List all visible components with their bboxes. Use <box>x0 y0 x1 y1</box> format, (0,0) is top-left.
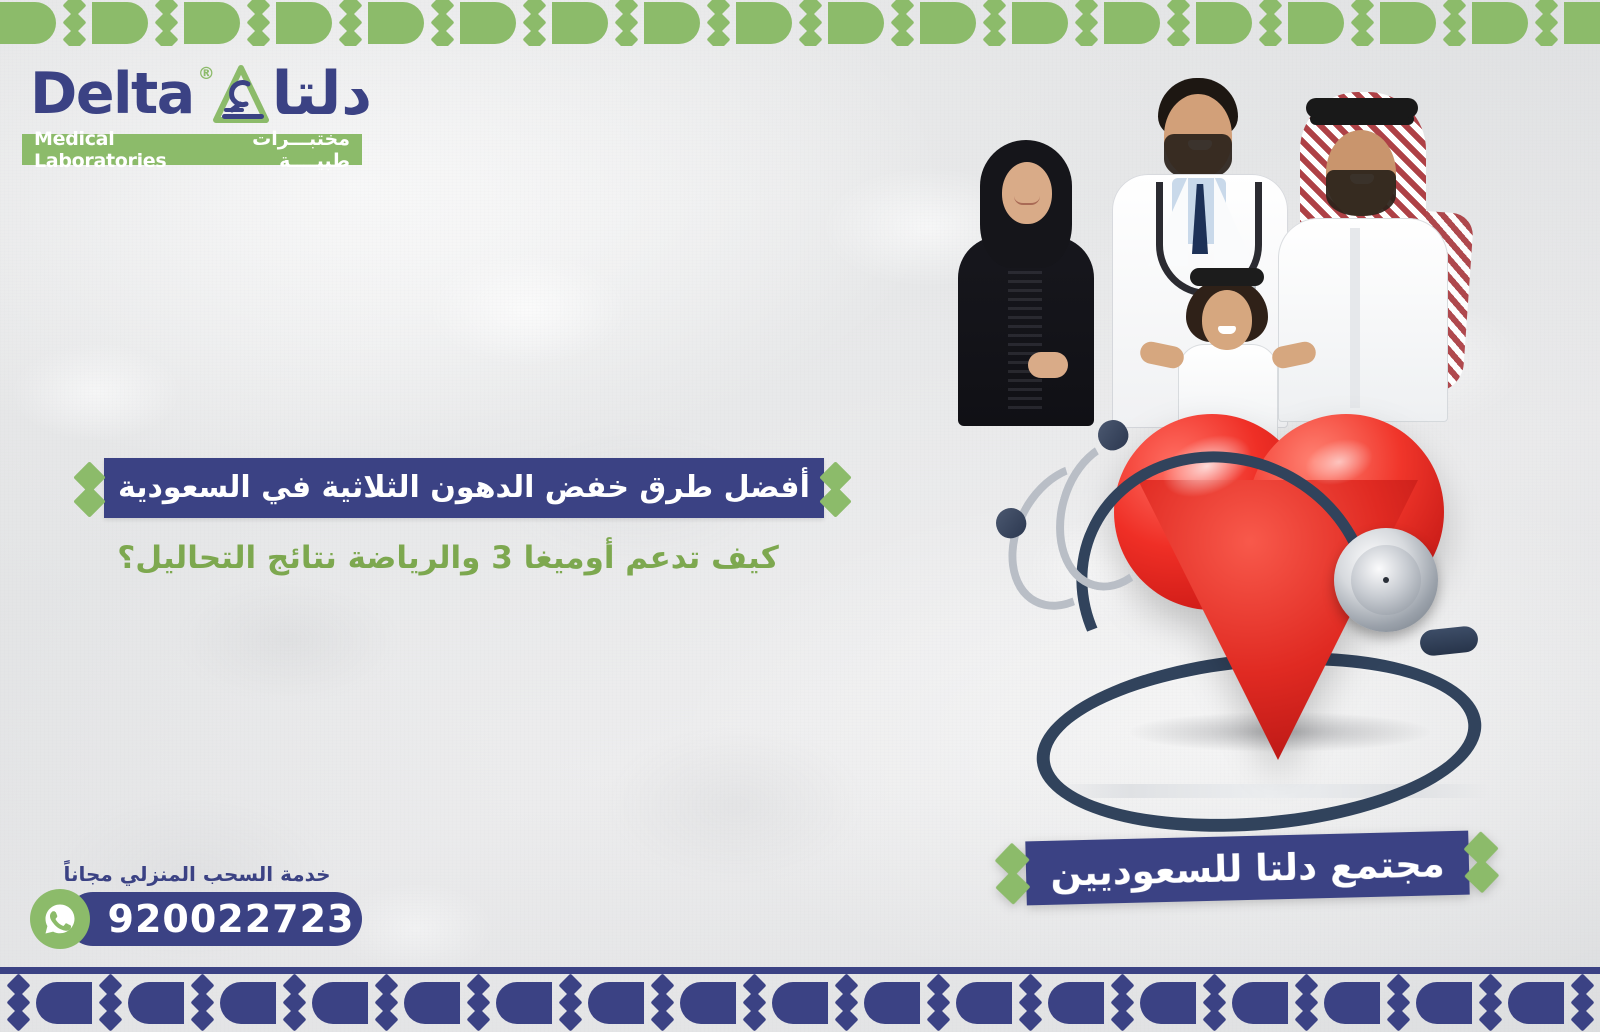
border-slab-icon <box>92 2 148 44</box>
border-motif <box>644 981 736 1025</box>
border-motif <box>920 981 1012 1025</box>
border-diamond-icon <box>1017 981 1043 1025</box>
border-motif <box>276 1 368 45</box>
border-slab-icon <box>1048 982 1104 1024</box>
border-motif <box>92 981 184 1025</box>
border-motif <box>92 1 184 45</box>
border-motif <box>368 981 460 1025</box>
border-diamond-icon <box>833 981 859 1025</box>
border-slab-icon <box>1012 2 1068 44</box>
border-diamond-icon <box>1073 1 1099 45</box>
border-motif <box>1564 1 1600 45</box>
border-diamond-icon <box>189 981 215 1025</box>
headline-subtitle: كيف تدعم أوميغا 3 والرياضة نتائج التحالي… <box>78 540 818 577</box>
border-slab-icon <box>128 982 184 1024</box>
border-motif <box>736 981 828 1025</box>
border-slab-icon <box>1140 982 1196 1024</box>
border-slab-icon <box>1508 982 1564 1024</box>
border-motif <box>644 1 736 45</box>
border-motif <box>736 1 828 45</box>
border-motif <box>1288 981 1380 1025</box>
border-diamond-icon <box>153 1 179 45</box>
border-slab-icon <box>1472 2 1528 44</box>
border-diamond-icon <box>97 981 123 1025</box>
border-slab-icon <box>312 982 368 1024</box>
tagline-latin: Medical Laboratories <box>34 128 210 172</box>
border-slab-icon <box>828 2 884 44</box>
border-slab-icon <box>184 2 240 44</box>
border-diamond-icon <box>61 1 87 45</box>
border-diamond-icon <box>281 981 307 1025</box>
border-motif <box>1288 1 1380 45</box>
border-slab-icon <box>1564 2 1600 44</box>
headline-title: أفضل طرق خفض الدهون الثلاثية في السعودية <box>118 473 810 503</box>
home-collection-note: خدمة السحب المنزلي مجاناً <box>30 862 370 886</box>
ribbon-label: مجتمع دلتا للسعوديين <box>1050 845 1445 892</box>
border-slab-icon <box>956 982 1012 1024</box>
border-slab-icon <box>644 2 700 44</box>
border-slab-icon <box>1380 2 1436 44</box>
border-slab-icon <box>368 2 424 44</box>
border-motif <box>184 1 276 45</box>
border-diamond-icon <box>705 1 731 45</box>
advertisement-banner: Delta ® دلتا Medical Laboratories مختبــ… <box>0 0 1600 1032</box>
border-motif <box>460 981 552 1025</box>
border-motif <box>828 1 920 45</box>
border-diamond-icon <box>1349 1 1375 45</box>
border-slab-icon <box>220 982 276 1024</box>
microscope-in-triangle-icon: ® <box>196 62 270 126</box>
border-slab-icon <box>36 982 92 1024</box>
border-slab-icon <box>404 982 460 1024</box>
logo-tagline-bar: Medical Laboratories مختبـــرات طبيــــة <box>22 134 362 165</box>
border-diamond-icon <box>1201 981 1227 1025</box>
border-motif <box>1472 1 1564 45</box>
border-motif <box>1380 981 1472 1025</box>
border-diamond-icon <box>557 981 583 1025</box>
border-slab-icon <box>496 982 552 1024</box>
border-motif <box>1564 981 1600 1025</box>
border-diamond-icon <box>245 1 271 45</box>
border-motif <box>1472 981 1564 1025</box>
border-slab-icon <box>1196 2 1252 44</box>
headline-banner: أفضل طرق خفض الدهون الثلاثية في السعودية <box>78 458 818 518</box>
border-diamond-icon <box>649 981 675 1025</box>
chevron-accent-right-icon <box>824 458 850 518</box>
border-diamond-icon <box>465 981 491 1025</box>
border-diamond-icon <box>429 1 455 45</box>
ribbon-bar: مجتمع دلتا للسعوديين <box>1025 831 1469 906</box>
border-diamond-icon <box>1569 981 1595 1025</box>
border-motif <box>0 1 92 45</box>
border-slab-icon <box>0 2 56 44</box>
border-diamond-icon <box>925 981 951 1025</box>
contact-block: خدمة السحب المنزلي مجاناً 920022723 <box>30 862 370 946</box>
border-slab-icon <box>736 2 792 44</box>
headline-bar: أفضل طرق خفض الدهون الثلاثية في السعودية <box>104 458 824 518</box>
border-motif <box>552 981 644 1025</box>
border-slab-icon <box>588 982 644 1024</box>
phone-number: 920022723 <box>74 900 355 938</box>
border-diamond-icon <box>1385 981 1411 1025</box>
border-slab-icon <box>1288 2 1344 44</box>
border-diamond-icon <box>1477 981 1503 1025</box>
border-diamond-icon <box>981 1 1007 45</box>
border-motif <box>920 1 1012 45</box>
border-slab-icon <box>1324 982 1380 1024</box>
logo-wordmark-row: Delta ® دلتا <box>22 58 362 130</box>
border-diamond-icon <box>613 1 639 45</box>
border-diamond-icon <box>797 1 823 45</box>
border-motif <box>1380 1 1472 45</box>
border-diamond-icon <box>373 981 399 1025</box>
border-diamond-icon <box>1109 981 1135 1025</box>
border-slab-icon <box>772 982 828 1024</box>
logo-latin-text: Delta <box>30 66 194 123</box>
border-diamond-icon <box>1257 1 1283 45</box>
top-decorative-border <box>0 0 1600 46</box>
border-diamond-icon <box>889 1 915 45</box>
whatsapp-icon[interactable] <box>30 889 90 949</box>
border-motif <box>0 981 92 1025</box>
border-motif <box>1196 1 1288 45</box>
border-diamond-icon <box>5 981 31 1025</box>
phone-number-pill[interactable]: 920022723 <box>66 892 362 946</box>
border-slab-icon <box>1416 982 1472 1024</box>
border-slab-icon <box>1232 982 1288 1024</box>
border-motif <box>1196 981 1288 1025</box>
border-diamond-icon <box>1293 981 1319 1025</box>
community-ribbon: مجتمع دلتا للسعوديين <box>999 830 1495 906</box>
bottom-rule <box>0 967 1600 974</box>
border-slab-icon <box>552 2 608 44</box>
chevron-accent-left-icon <box>78 458 104 518</box>
border-motif <box>1012 981 1104 1025</box>
border-motif <box>368 1 460 45</box>
border-slab-icon <box>276 2 332 44</box>
phone-row[interactable]: 920022723 <box>30 892 370 946</box>
border-slab-icon <box>1104 2 1160 44</box>
border-slab-icon <box>680 982 736 1024</box>
registered-mark: ® <box>198 64 215 84</box>
border-diamond-icon <box>741 981 767 1025</box>
border-slab-icon <box>920 2 976 44</box>
border-slab-icon <box>864 982 920 1024</box>
border-motif <box>460 1 552 45</box>
border-diamond-icon <box>1441 1 1467 45</box>
border-slab-icon <box>460 2 516 44</box>
border-motif <box>828 981 920 1025</box>
brand-logo: Delta ® دلتا Medical Laboratories مختبــ… <box>22 58 362 165</box>
border-motif <box>276 981 368 1025</box>
border-diamond-icon <box>1165 1 1191 45</box>
border-diamond-icon <box>521 1 547 45</box>
border-diamond-icon <box>337 1 363 45</box>
logo-arabic-text: دلتا <box>272 64 372 124</box>
border-motif <box>1104 1 1196 45</box>
border-diamond-icon <box>1533 1 1559 45</box>
bottom-decorative-border <box>0 974 1600 1032</box>
ribbon-chevron-left-icon <box>999 841 1027 906</box>
border-motif <box>1104 981 1196 1025</box>
border-motif <box>552 1 644 45</box>
tagline-arabic: مختبـــرات طبيــــة <box>210 128 351 172</box>
border-motif <box>184 981 276 1025</box>
border-motif <box>1012 1 1104 45</box>
ribbon-chevron-right-icon <box>1468 830 1496 895</box>
